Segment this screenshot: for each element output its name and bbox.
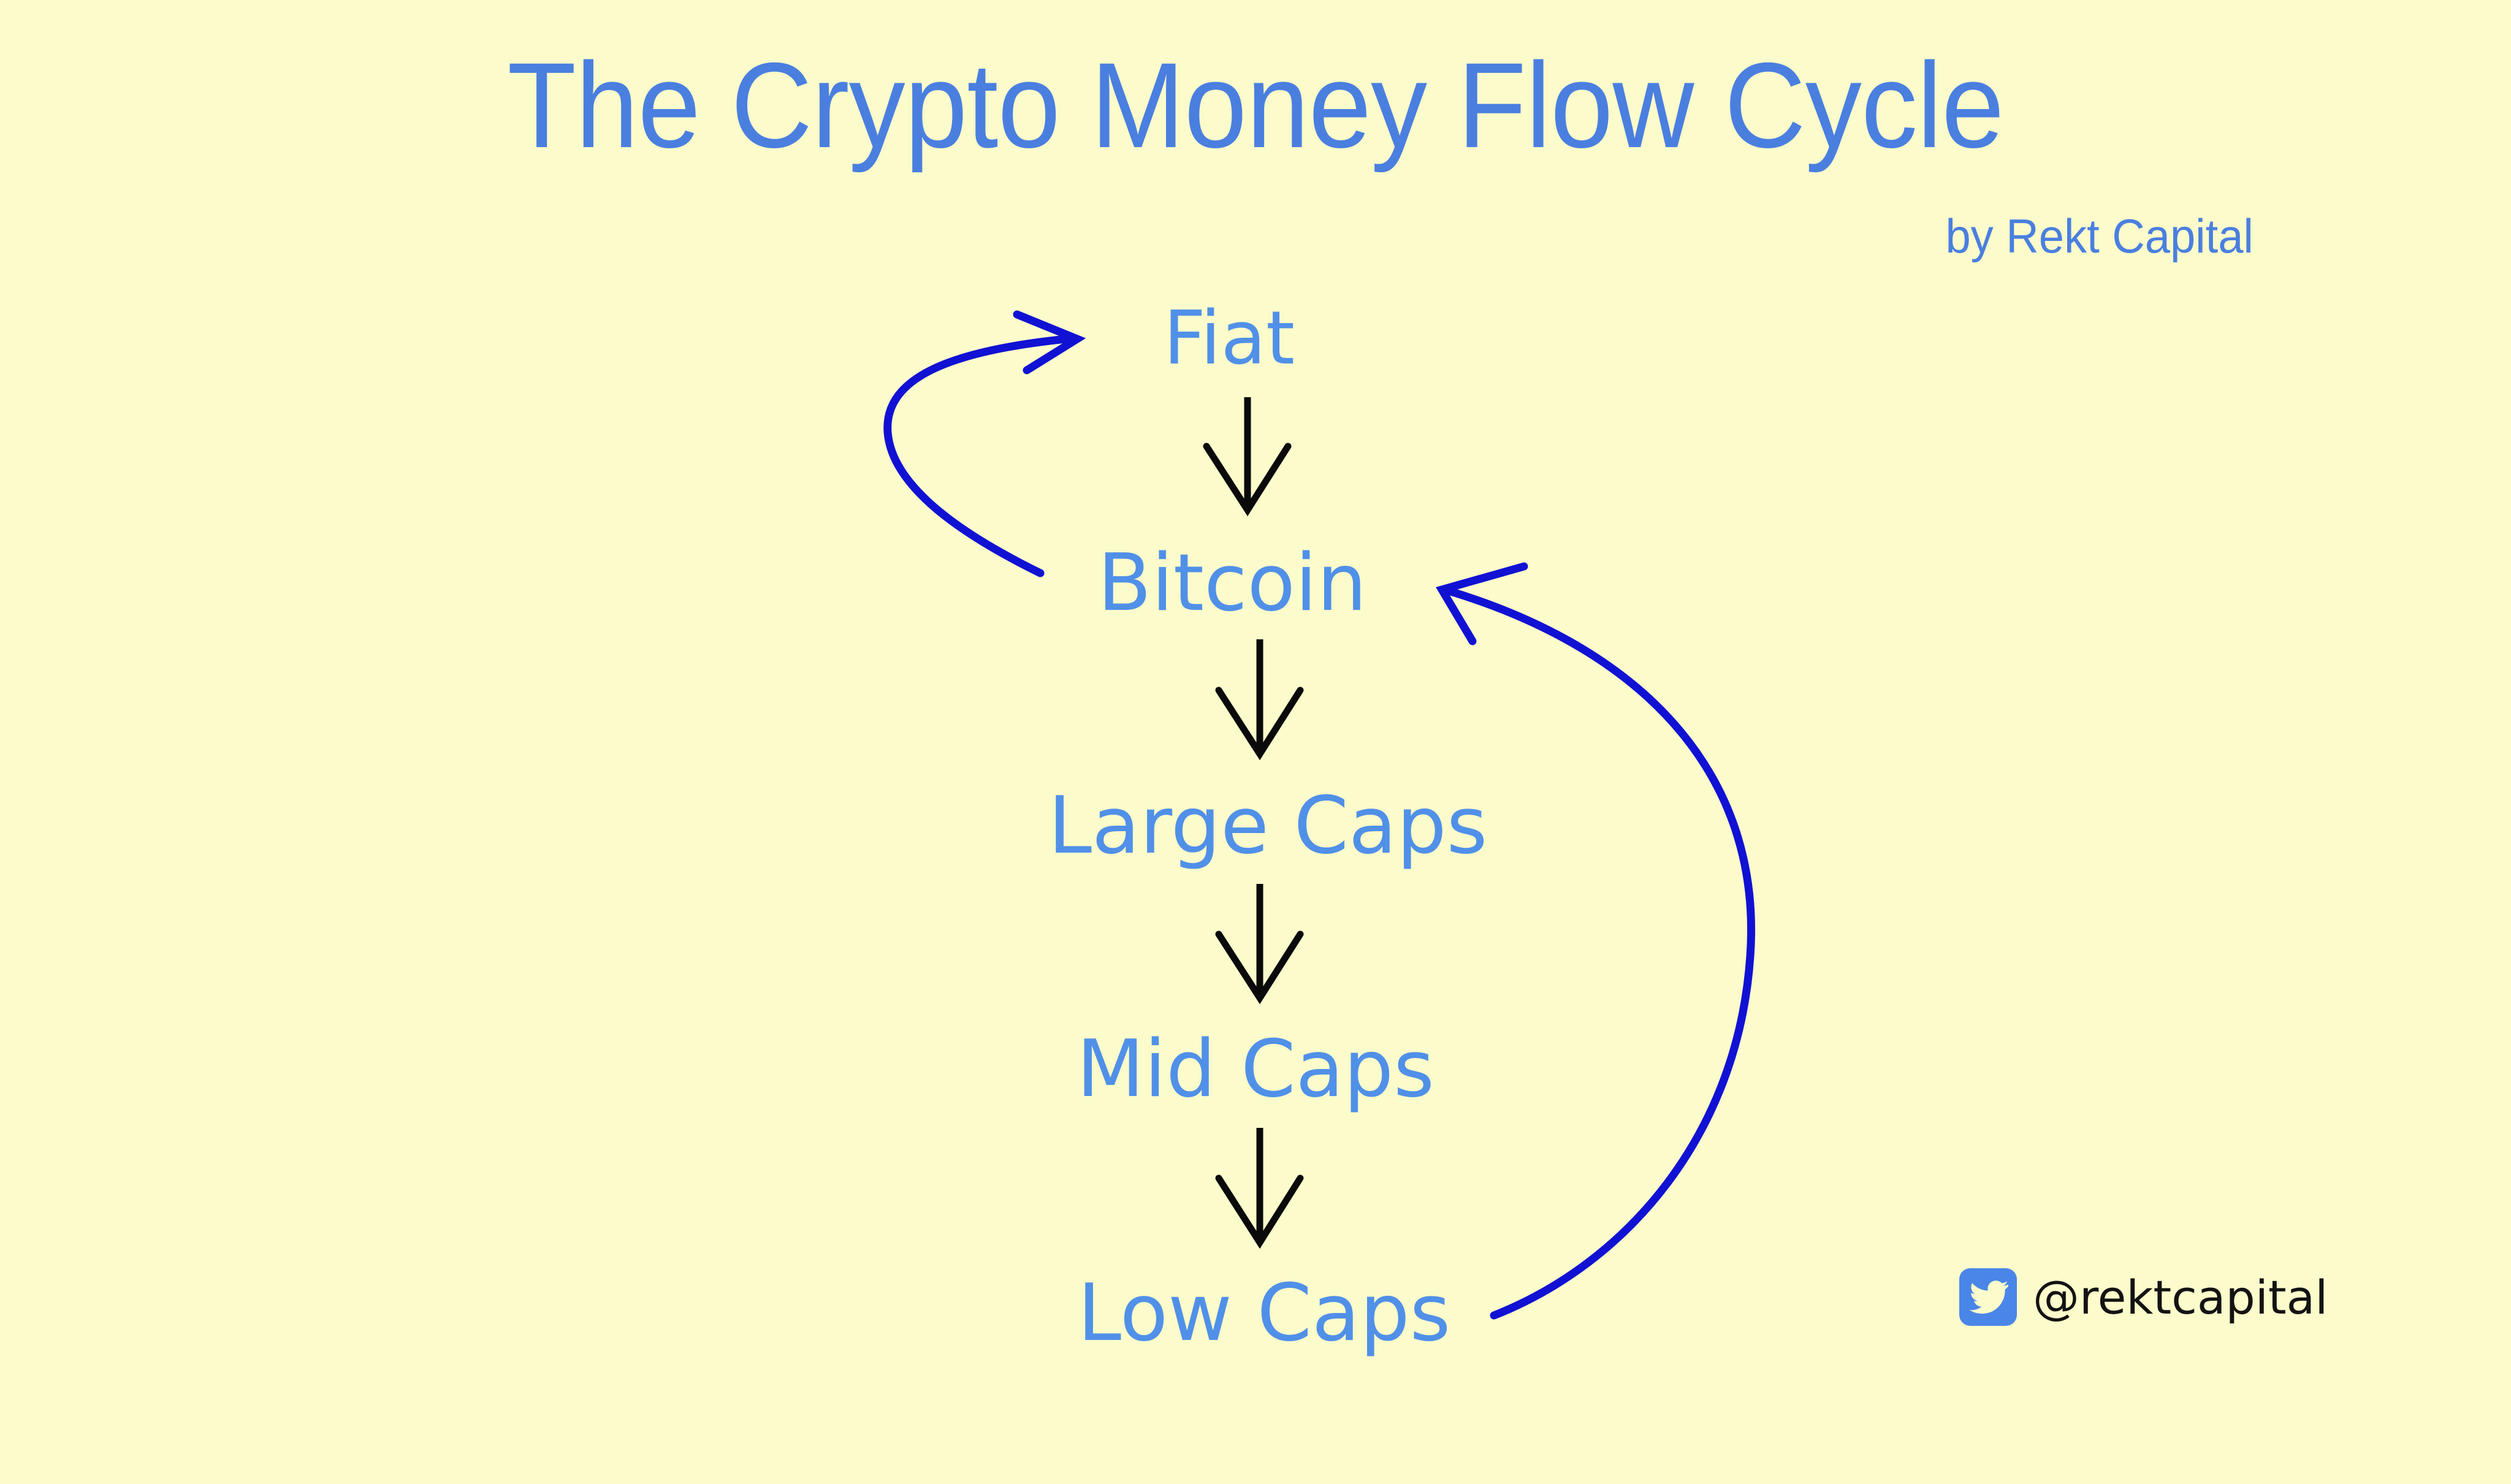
edge-largecaps-to-midcaps [1219, 884, 1300, 998]
poster-canvas: The Crypto Money Flow Cycle by Rekt Capi… [0, 0, 2511, 1484]
page-title: The Crypto Money Flow Cycle [88, 42, 2423, 169]
edge-lowcaps-to-bitcoin-loop [1442, 566, 1751, 1315]
edge-bitcoin-to-fiat-loop [888, 314, 1077, 573]
flow-node-mid-caps: Mid Caps [1076, 1030, 1435, 1109]
byline-author: by Rekt Capital [1946, 208, 2254, 264]
flow-node-fiat: Fiat [1164, 302, 1295, 376]
twitter-credit[interactable]: @rektcapital [1959, 1268, 2328, 1326]
flow-node-low-caps: Low Caps [1078, 1274, 1451, 1353]
flow-node-large-caps: Large Caps [1048, 787, 1488, 866]
edge-midcaps-to-lowcaps [1219, 1128, 1300, 1242]
twitter-bird-icon[interactable] [1959, 1268, 2017, 1326]
flow-node-bitcoin: Bitcoin [1098, 544, 1367, 623]
twitter-handle-label[interactable]: @rektcapital [2033, 1270, 2328, 1325]
edge-fiat-to-bitcoin [1206, 397, 1288, 510]
edge-bitcoin-to-largecaps [1219, 639, 1300, 754]
